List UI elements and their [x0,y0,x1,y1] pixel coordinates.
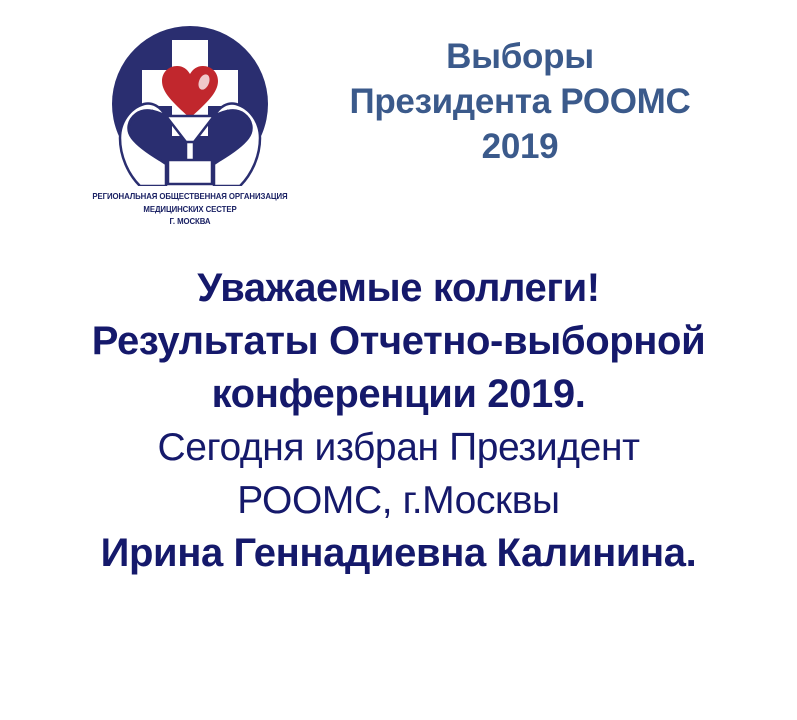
announcement-message: Уважаемые коллеги! Результаты Отчетно-вы… [0,262,797,580]
message-line-5: РООМС, г.Москвы [0,474,797,527]
message-line-2: Результаты Отчетно-выборной [0,315,797,368]
poster-header: РЕГИОНАЛЬНАЯ ОБЩЕСТВЕННАЯ ОРГАНИЗАЦИЯ МЕ… [0,0,797,248]
message-line-6: Ирина Геннадиевна Калинина. [0,527,797,580]
announcement-poster: РЕГИОНАЛЬНАЯ ОБЩЕСТВЕННАЯ ОРГАНИЗАЦИЯ МЕ… [0,0,797,720]
title-line-3: 2019 [300,124,740,169]
message-line-4: Сегодня избран Президент [0,421,797,474]
poster-title: Выборы Президента РООМС 2019 [300,34,740,169]
organization-logo-block: РЕГИОНАЛЬНАЯ ОБЩЕСТВЕННАЯ ОРГАНИЗАЦИЯ МЕ… [60,24,320,228]
title-line-2: Президента РООМС [300,79,740,124]
message-line-3: конференции 2019. [0,368,797,421]
caption-line-2: МЕДИЦИНСКИХ СЕСТЕР [70,203,309,216]
message-line-1: Уважаемые коллеги! [0,262,797,315]
caption-line-1: РЕГИОНАЛЬНАЯ ОБЩЕСТВЕННАЯ ОРГАНИЗАЦИЯ [70,190,309,203]
roomc-emblem-icon [110,24,270,186]
organization-caption: РЕГИОНАЛЬНАЯ ОБЩЕСТВЕННАЯ ОРГАНИЗАЦИЯ МЕ… [70,190,309,228]
caption-line-3: Г. МОСКВА [70,215,309,228]
title-line-1: Выборы [300,34,740,79]
